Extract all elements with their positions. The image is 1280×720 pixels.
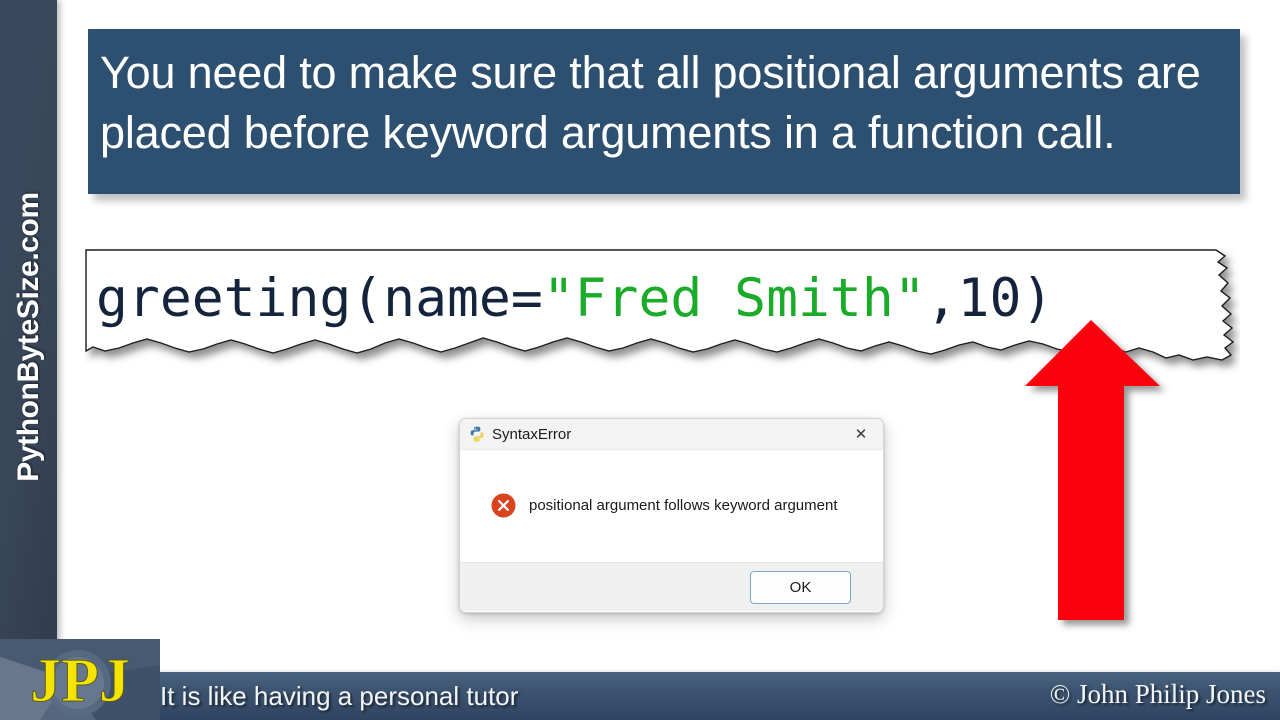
footer-bar: It is like having a personal tutor © Joh…: [151, 672, 1280, 720]
dialog-message: positional argument follows keyword argu…: [529, 496, 838, 516]
dialog-footer: OK: [460, 562, 883, 611]
code-prefix: greeting(name=: [96, 268, 543, 329]
sidebar-brand-label: PythonByteSize.com: [12, 192, 46, 482]
code-string-literal: "Fred Smith": [543, 268, 926, 329]
ok-button[interactable]: OK: [750, 571, 851, 604]
jpj-logo-graphic: JPJ: [0, 639, 160, 720]
error-circle-icon: [491, 493, 516, 518]
footer-copyright: © John Philip Jones: [1050, 679, 1266, 710]
syntaxerror-dialog: SyntaxError ✕ positional argument follow…: [459, 418, 884, 613]
jpj-logo: JPJ: [0, 639, 160, 720]
close-icon[interactable]: ✕: [839, 419, 883, 449]
footer-tagline: It is like having a personal tutor: [160, 681, 518, 712]
dialog-title: SyntaxError: [492, 426, 571, 443]
headline-text: You need to make sure that all positiona…: [100, 43, 1226, 163]
sidebar-brand-strip: PythonByteSize.com: [0, 0, 57, 673]
code-line: greeting(name="Fred Smith",10): [96, 268, 1053, 330]
dialog-body: positional argument follows keyword argu…: [460, 450, 883, 562]
svg-text:JPJ: JPJ: [30, 647, 130, 715]
python-icon: [469, 426, 485, 442]
headline-banner: You need to make sure that all positiona…: [88, 29, 1240, 194]
dialog-titlebar: SyntaxError ✕: [460, 419, 883, 450]
up-arrow-annotation: [1025, 318, 1170, 633]
